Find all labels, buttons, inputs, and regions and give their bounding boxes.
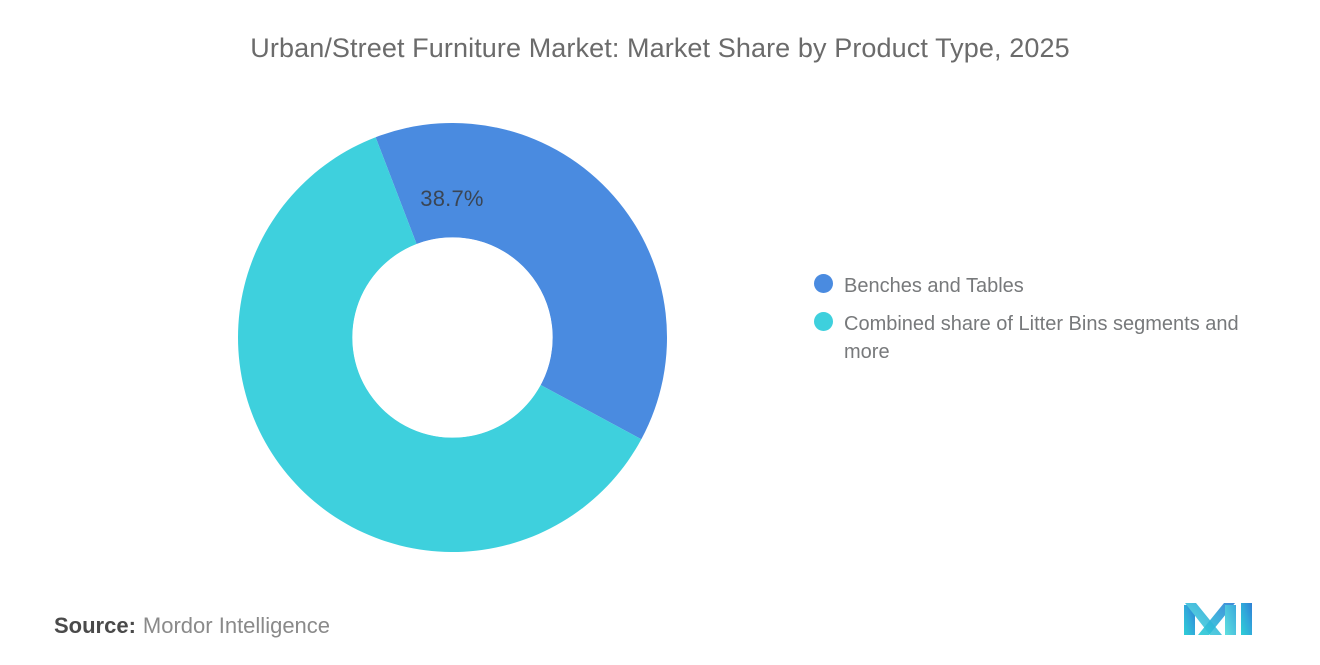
donut-slice-label-benches: 38.7% [402,186,502,212]
source-value: Mordor Intelligence [143,613,330,638]
chart-title: Urban/Street Furniture Market: Market Sh… [0,28,1320,68]
source-attribution: Source:Mordor Intelligence [54,610,330,642]
legend-item-combined-litter-bins[interactable]: Combined share of Litter Bins segments a… [814,310,1254,366]
donut-hole [353,238,553,438]
chart-legend: Benches and Tables Combined share of Lit… [814,272,1254,376]
legend-color-swatch-icon [814,274,833,293]
legend-color-swatch-icon [814,312,833,331]
source-label: Source: [54,613,136,638]
logo-mark-svg [1184,599,1252,635]
legend-item-label: Benches and Tables [844,272,1024,300]
legend-item-label: Combined share of Litter Bins segments a… [844,310,1244,366]
mordor-intelligence-logo-icon [1184,599,1252,635]
legend-item-benches-and-tables[interactable]: Benches and Tables [814,272,1254,300]
